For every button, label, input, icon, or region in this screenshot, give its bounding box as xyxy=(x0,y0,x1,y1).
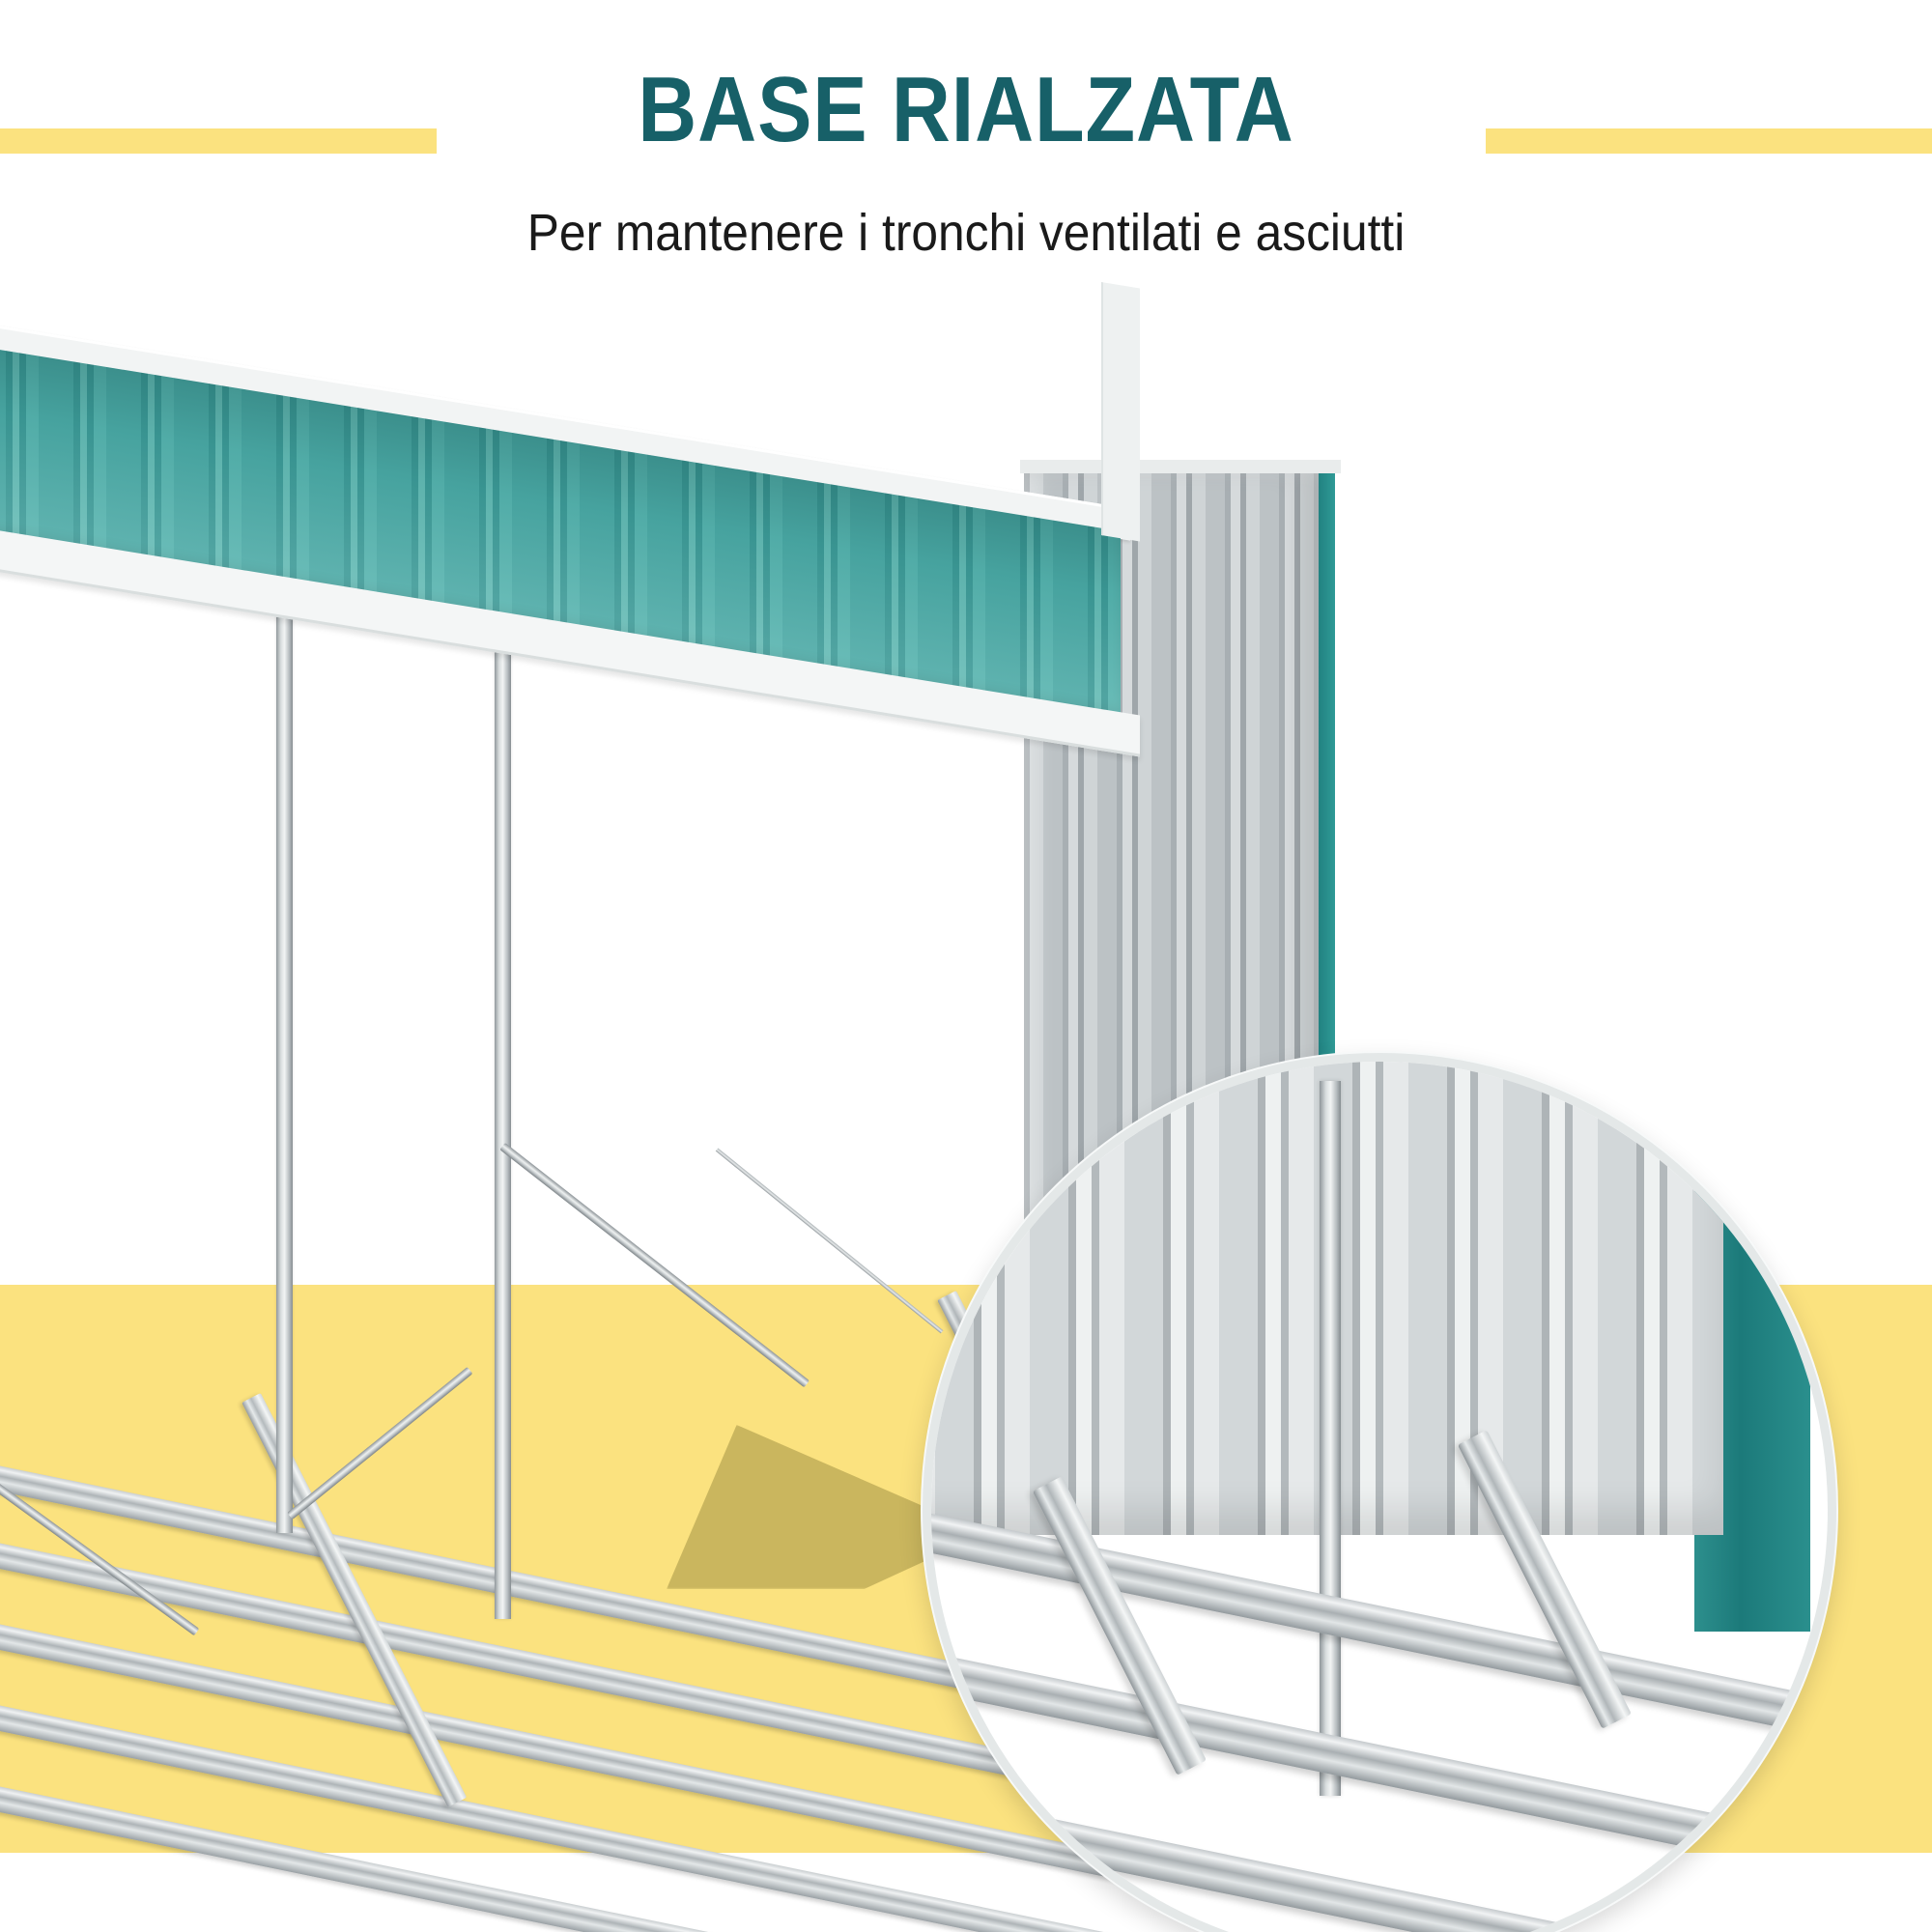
product-illustration xyxy=(0,290,1932,1932)
zoom-frame-rail xyxy=(923,1778,1836,1932)
zoom-callout-content xyxy=(931,1062,1810,1932)
roof-assembly xyxy=(0,309,1372,811)
zoom-support-post xyxy=(1320,1081,1341,1796)
page-title: BASE RIALZATA xyxy=(116,60,1816,160)
promo-banner: BASE RIALZATA Per mantenere i tronchi ve… xyxy=(0,0,1932,1932)
zoom-callout-circle xyxy=(923,1053,1836,1932)
header: BASE RIALZATA Per mantenere i tronchi ve… xyxy=(0,0,1932,290)
gable-edge-trim xyxy=(1101,282,1140,541)
page-subtitle: Per mantenere i tronchi ventilati e asci… xyxy=(77,203,1855,263)
